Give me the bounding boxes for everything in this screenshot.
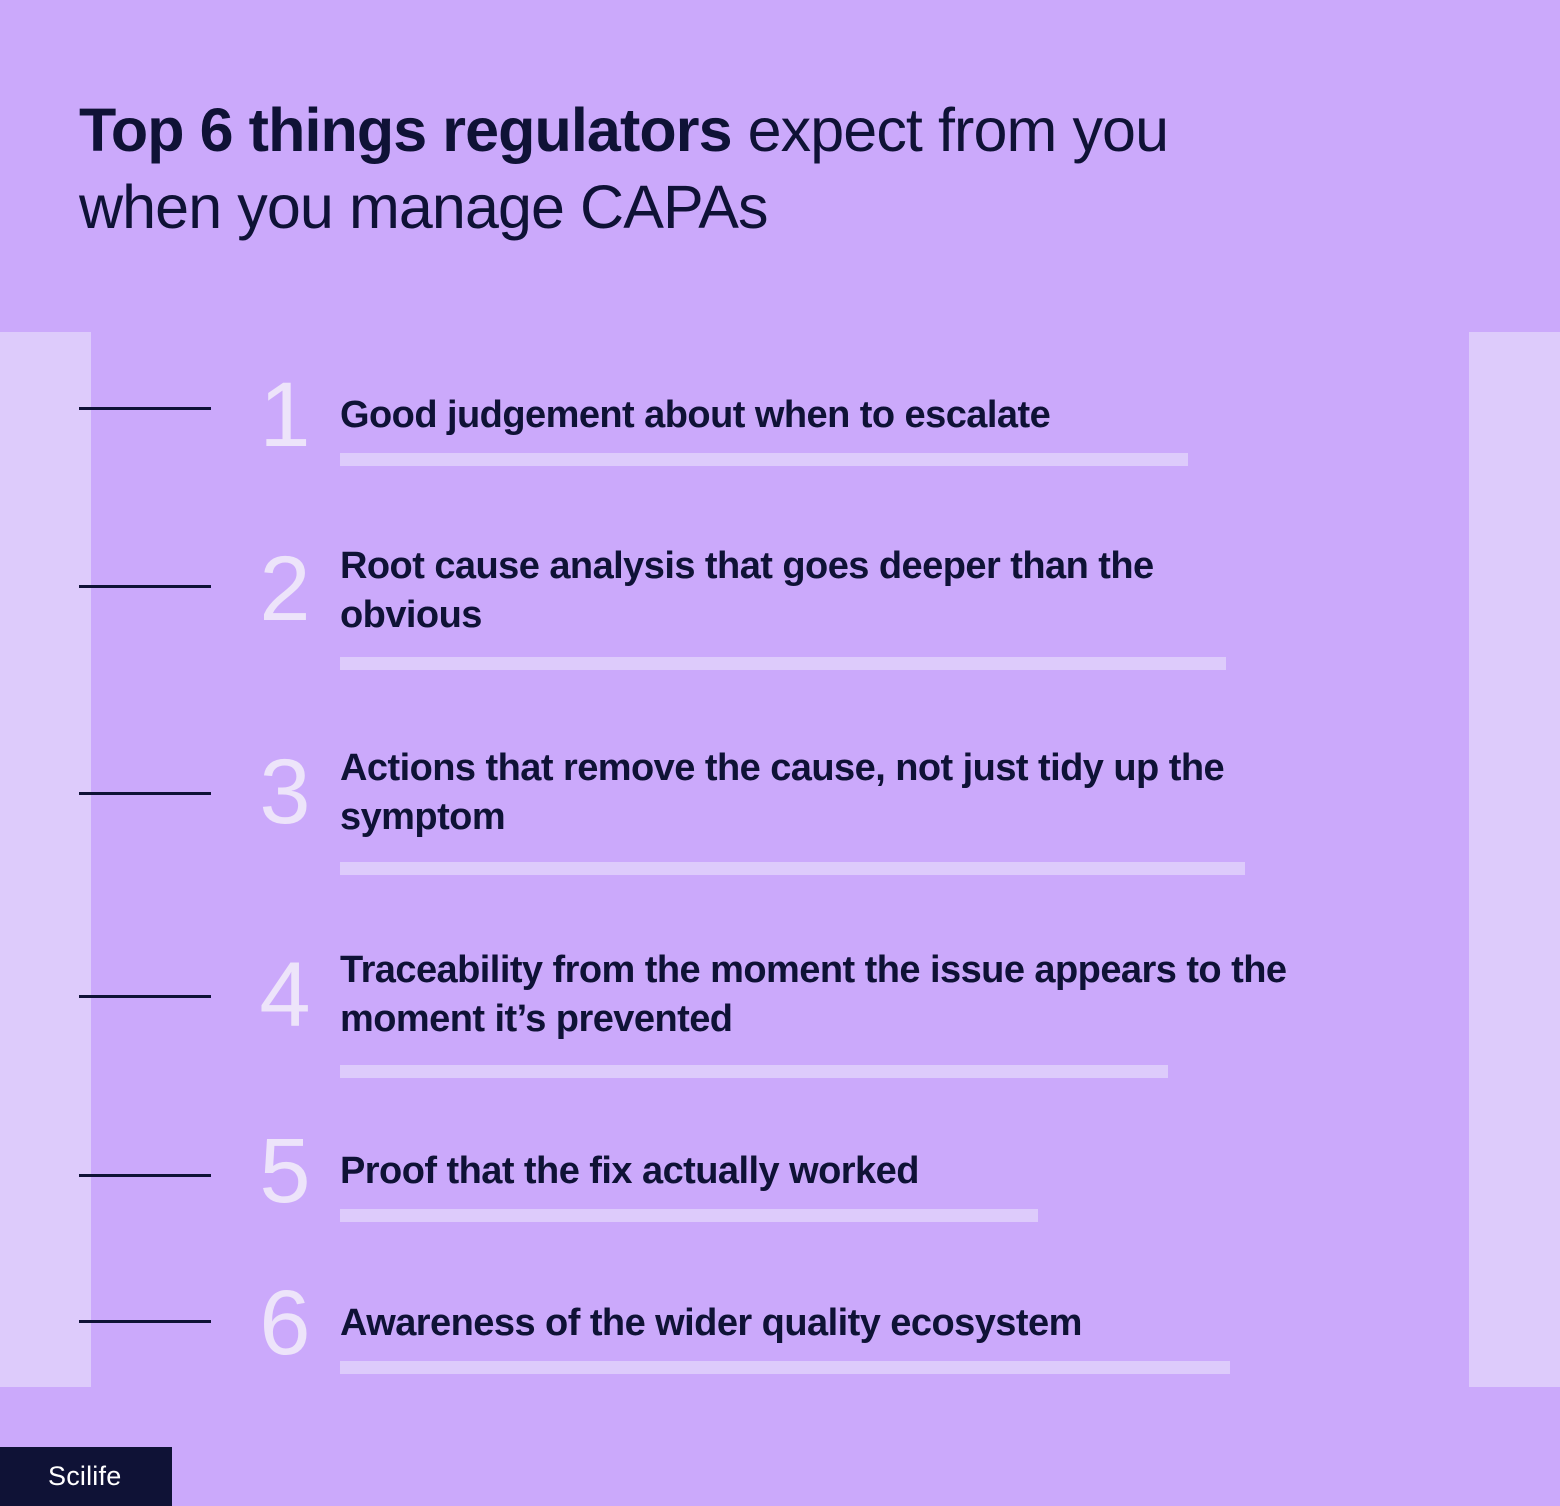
- item-underbar: [340, 1209, 1038, 1222]
- item-dash-icon: [79, 585, 211, 588]
- item-label: Proof that the fix actually worked: [340, 1147, 1300, 1196]
- item-label: Good judgement about when to escalate: [340, 391, 1300, 440]
- item-number: 1: [248, 378, 320, 453]
- item-dash-icon: [79, 407, 211, 410]
- item-dash-icon: [79, 1320, 211, 1323]
- item-label: Awareness of the wider quality ecosystem: [340, 1299, 1300, 1348]
- item-underbar: [340, 1065, 1168, 1078]
- item-number: 6: [248, 1286, 320, 1361]
- item-label: Traceability from the moment the issue a…: [340, 946, 1300, 1045]
- brand-logo-text: Scilife: [48, 1463, 121, 1490]
- page-title: Top 6 things regulators expect from you …: [79, 92, 1259, 247]
- item-number: 3: [248, 755, 320, 830]
- item-number: 5: [248, 1134, 320, 1209]
- title-emphasis: Top 6 things regulators: [79, 96, 732, 164]
- item-underbar: [340, 862, 1245, 875]
- title-block: Top 6 things regulators expect from you …: [79, 92, 1259, 247]
- decorative-panel-left: [0, 332, 91, 1387]
- item-dash-icon: [79, 792, 211, 795]
- item-label: Actions that remove the cause, not just …: [340, 744, 1300, 843]
- item-label: Root cause analysis that goes deeper tha…: [340, 542, 1300, 641]
- infographic-canvas: Top 6 things regulators expect from you …: [0, 0, 1560, 1506]
- decorative-panel-right: [1469, 332, 1560, 1387]
- item-underbar: [340, 657, 1226, 670]
- brand-logo: Scilife: [0, 1447, 172, 1506]
- item-underbar: [340, 1361, 1230, 1374]
- item-dash-icon: [79, 1174, 211, 1177]
- item-underbar: [340, 453, 1188, 466]
- item-dash-icon: [79, 995, 211, 998]
- item-number: 4: [248, 958, 320, 1033]
- item-number: 2: [248, 552, 320, 627]
